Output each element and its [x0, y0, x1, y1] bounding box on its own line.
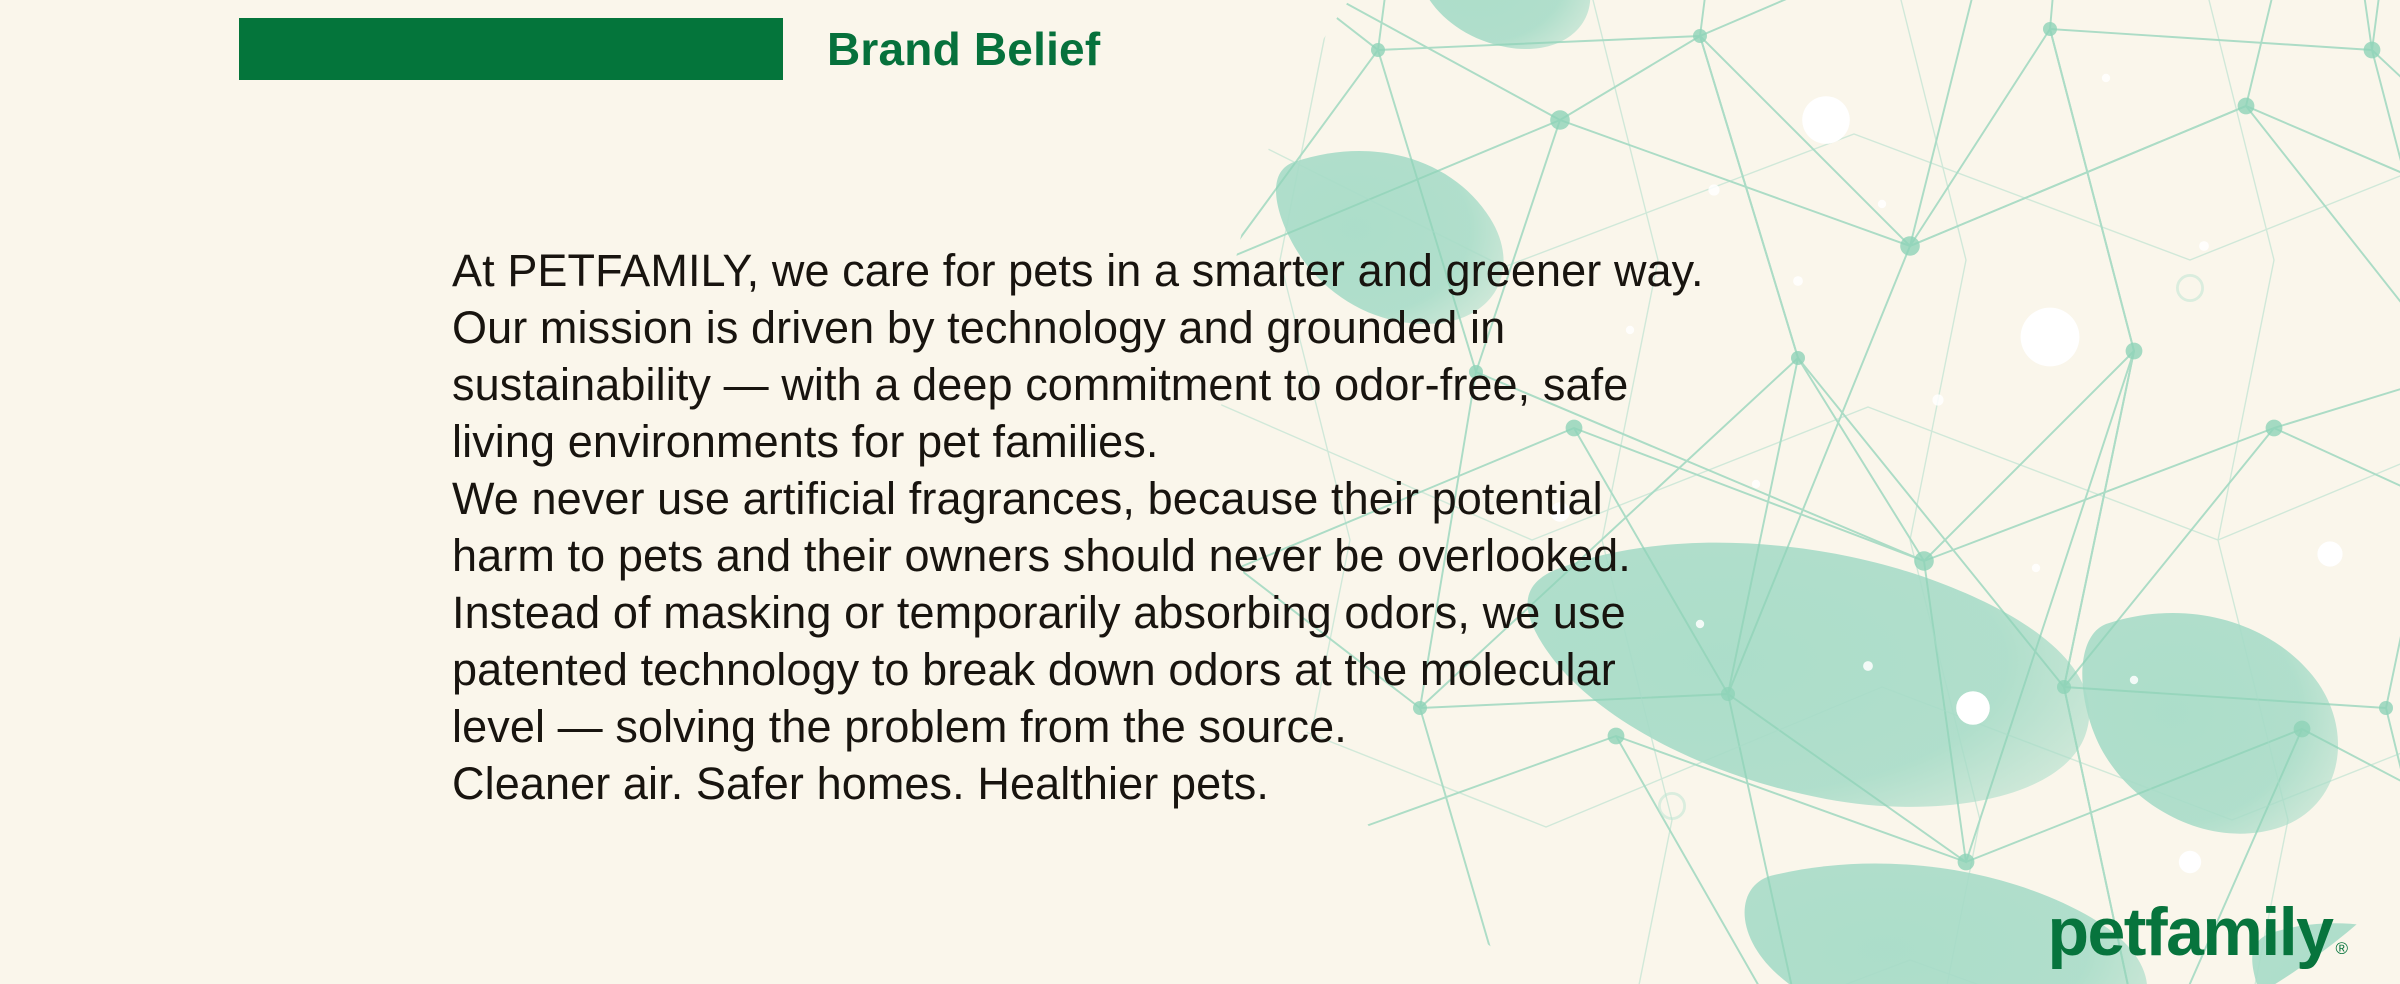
brand-logo: petfamily ®	[2047, 898, 2348, 966]
copy-line: We never use artificial fragrances, beca…	[452, 470, 1912, 527]
copy-line: harm to pets and their owners should nev…	[452, 527, 1912, 584]
page-title: Brand Belief	[827, 26, 1100, 72]
page-header: Brand Belief	[239, 18, 1100, 80]
copy-line: Cleaner air. Safer homes. Healthier pets…	[452, 755, 1912, 812]
slide-canvas: Brand Belief At PETFAMILY, we care for p…	[0, 0, 2400, 984]
copy-line: sustainability — with a deep commitment …	[452, 356, 1912, 413]
brand-belief-copy: At PETFAMILY, we care for pets in a smar…	[452, 242, 1912, 812]
copy-line: living environments for pet families.	[452, 413, 1912, 470]
copy-line: Instead of masking or temporarily absorb…	[452, 584, 1912, 641]
copy-line: Our mission is driven by technology and …	[452, 299, 1912, 356]
registered-trademark-icon: ®	[2335, 940, 2348, 957]
copy-line: patented technology to break down odors …	[452, 641, 1912, 698]
title-accent-bar	[239, 18, 783, 80]
copy-line: level — solving the problem from the sou…	[452, 698, 1912, 755]
copy-line: At PETFAMILY, we care for pets in a smar…	[452, 242, 1912, 299]
logo-wordmark: petfamily	[2047, 898, 2332, 966]
